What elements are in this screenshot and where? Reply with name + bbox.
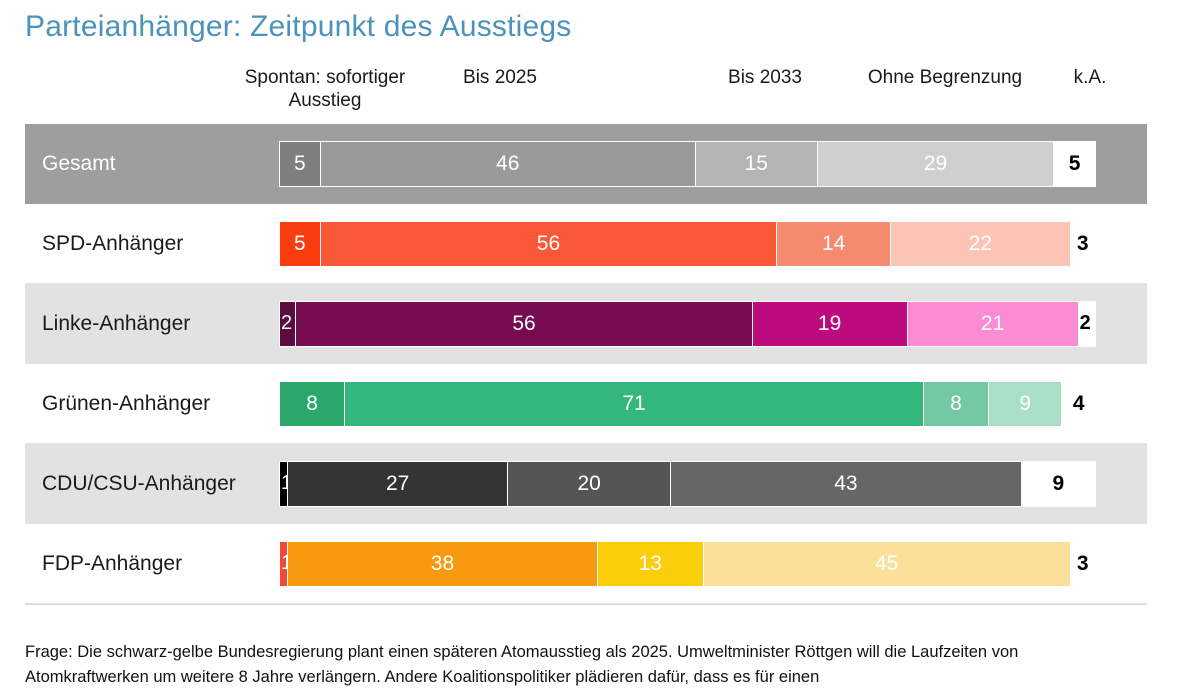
row-label: Gesamt xyxy=(42,152,116,176)
bar-segment: 5 xyxy=(1054,142,1095,186)
bar-segment: 3 xyxy=(1071,222,1095,266)
bar-segment: 56 xyxy=(296,302,752,346)
bar-segment: 71 xyxy=(345,382,924,426)
bar-segment: 38 xyxy=(288,542,598,586)
bar-segment: 2 xyxy=(1079,302,1095,346)
column-header-1: Bis 2025 xyxy=(440,66,560,89)
bar-segment: 45 xyxy=(704,542,1071,586)
bar-segment: 8 xyxy=(280,382,345,426)
bar-segment: 1 xyxy=(280,542,288,586)
bar-segment: 9 xyxy=(989,382,1062,426)
bar-segment: 27 xyxy=(288,462,508,506)
bar-segment: 14 xyxy=(777,222,891,266)
bar-segment: 46 xyxy=(321,142,696,186)
bar-segment: 22 xyxy=(891,222,1070,266)
column-header-0: Spontan: sofortiger Ausstieg xyxy=(225,66,425,112)
bar-segment: 13 xyxy=(598,542,704,586)
chart-row: Grünen-Anhänger871894 xyxy=(25,364,1147,444)
chart-row: Linke-Anhänger25619212 xyxy=(25,284,1147,364)
column-header-row: Spontan: sofortiger AusstiegBis 2025Bis … xyxy=(0,66,1200,118)
chart-row: SPD-Anhänger55614223 xyxy=(25,204,1147,284)
bar-segment: 3 xyxy=(1071,542,1095,586)
bar-segment: 15 xyxy=(696,142,818,186)
bar-segment: 56 xyxy=(321,222,777,266)
bar-segment: 21 xyxy=(908,302,1079,346)
bar-segment: 43 xyxy=(671,462,1021,506)
row-label: CDU/CSU-Anhänger xyxy=(42,472,236,496)
bar-segment: 2 xyxy=(280,302,296,346)
bar-segment: 4 xyxy=(1062,382,1095,426)
column-header-2: Bis 2033 xyxy=(700,66,830,89)
bar-segment: 29 xyxy=(818,142,1054,186)
stacked-bar: 55614223 xyxy=(280,222,1095,266)
divider xyxy=(25,604,1147,605)
chart-row: FDP-Anhänger13813453 xyxy=(25,524,1147,604)
stacked-bar: 12720439 xyxy=(280,462,1095,506)
page-title: Parteianhänger: Zeitpunkt des Ausstiegs xyxy=(25,10,571,44)
row-label: SPD-Anhänger xyxy=(42,232,183,256)
column-header-3: Ohne Begrenzung xyxy=(840,66,1050,89)
row-label: Grünen-Anhänger xyxy=(42,392,210,416)
stacked-bar: 871894 xyxy=(280,382,1095,426)
stacked-bar: 13813453 xyxy=(280,542,1095,586)
bar-segment: 5 xyxy=(280,222,321,266)
chart-row: CDU/CSU-Anhänger12720439 xyxy=(25,444,1147,524)
bar-segment: 9 xyxy=(1022,462,1095,506)
bar-segment: 1 xyxy=(280,462,288,506)
column-header-4: k.A. xyxy=(1055,66,1125,89)
bar-segment: 8 xyxy=(924,382,989,426)
chart-plot-area: Gesamt54615295SPD-Anhänger55614223Linke-… xyxy=(25,124,1147,604)
bar-segment: 5 xyxy=(280,142,321,186)
stacked-bar: 25619212 xyxy=(280,302,1095,346)
footnote-question: Frage: Die schwarz-gelbe Bundesregierung… xyxy=(25,640,1145,690)
stacked-bar: 54615295 xyxy=(280,142,1095,186)
bar-segment: 20 xyxy=(508,462,671,506)
row-label: FDP-Anhänger xyxy=(42,552,182,576)
chart-row: Gesamt54615295 xyxy=(25,124,1147,204)
row-label: Linke-Anhänger xyxy=(42,312,190,336)
bar-segment: 19 xyxy=(753,302,908,346)
